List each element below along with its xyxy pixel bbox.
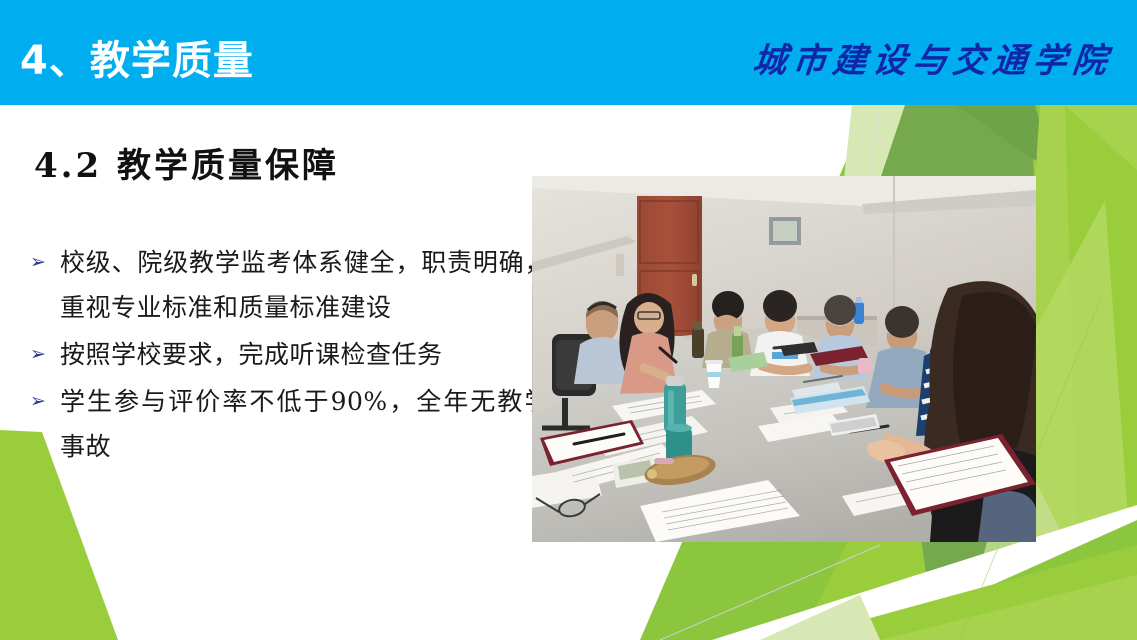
page-title: 4、教学质量: [20, 28, 254, 86]
arrow-bullet-icon: ➢: [30, 332, 60, 377]
section-subtitle: 4.2 教学质量保障: [34, 138, 339, 187]
bullet-list: ➢ 校级、院级教学监考体系健全，职责明确，重视专业标准和质量标准建设 ➢ 按照学…: [30, 240, 550, 471]
meeting-photo: [532, 176, 1036, 542]
organization-name: 城市建设与交通学院: [750, 33, 1115, 82]
list-item: ➢ 按照学校要求，完成听课检查任务: [30, 332, 550, 377]
list-item: ➢ 学生参与评价率不低于90%，全年无教学事故: [30, 379, 550, 469]
list-item-label: 按照学校要求，完成听课检查任务: [60, 332, 550, 377]
arrow-bullet-icon: ➢: [30, 379, 60, 424]
list-item-label: 学生参与评价率不低于90%，全年无教学事故: [60, 379, 550, 469]
list-item: ➢ 校级、院级教学监考体系健全，职责明确，重视专业标准和质量标准建设: [30, 240, 550, 330]
arrow-bullet-icon: ➢: [30, 240, 60, 285]
meeting-photo-illustration: [532, 176, 1036, 542]
header-bar: 4、教学质量 城市建设与交通学院: [0, 0, 1137, 105]
list-item-label: 校级、院级教学监考体系健全，职责明确，重视专业标准和质量标准建设: [60, 240, 550, 330]
slide: 4、教学质量 城市建设与交通学院 4.2 教学质量保障 ➢ 校级、院级教学监考体…: [0, 0, 1137, 640]
pink-cup: [858, 358, 872, 374]
